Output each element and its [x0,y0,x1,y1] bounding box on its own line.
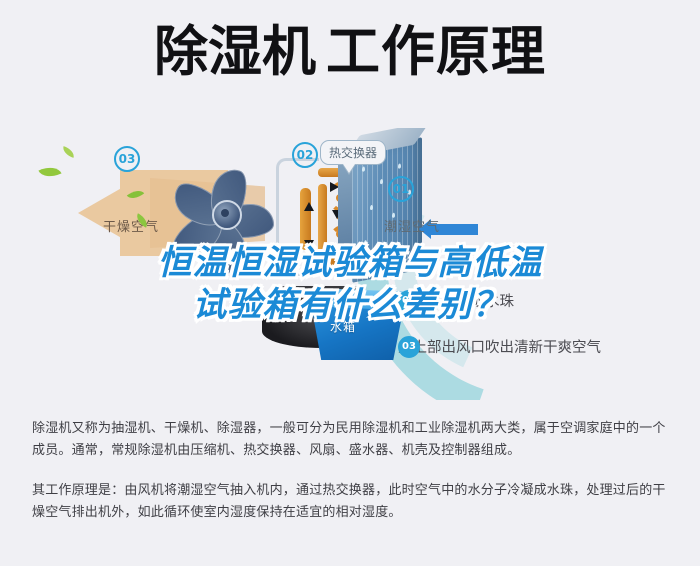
leaf-icon [61,146,76,158]
dry-air-label: 干燥空气 [103,216,159,235]
title-part-1: 除湿机 [154,20,316,83]
title-part-2: 工作原理 [326,20,546,83]
bullet-text-03: 从上部出风口吹出清新干爽空气 [398,336,601,357]
bullet-line-02: 02 蒸发器冷凝成水珠 [398,290,514,311]
fan-hub [212,200,242,230]
humid-air-label: 潮湿空气 [384,216,440,235]
badge-02-heat-exchanger: 02 [292,142,318,168]
leaf-icon [38,162,61,181]
heat-exchanger-callout: 热交换器 [320,140,386,165]
dehumidifier-diagram: 干燥空气 03 [0,128,700,400]
fan-illustration [168,156,286,268]
badge-03-bullet: 03 [398,336,420,358]
infographic-page: 除湿机工作原理 干燥空气 03 [0,0,700,566]
badge-01-humid-air: 01 [388,176,414,202]
water-tank-label: 水箱 [330,318,356,335]
page-title: 除湿机工作原理 [0,24,700,81]
badge-02-bullet: 02 [398,290,420,312]
badge-03-dry-air: 03 [114,146,140,172]
paragraph-2: 其工作原理是：由风机将潮湿空气抽入机内，通过热交换器，此时空气中的水分子冷凝成水… [32,480,674,524]
body-copy: 除湿机又称为抽湿机、干燥机、除湿器，一般可分为民用除湿机和工业除湿机两大类，属于… [32,418,674,524]
paragraph-1: 除湿机又称为抽湿机、干燥机、除湿器，一般可分为民用除湿机和工业除湿机两大类，属于… [32,418,674,462]
bullet-line-03: 03 从上部出风口吹出清新干爽空气 [398,336,601,357]
